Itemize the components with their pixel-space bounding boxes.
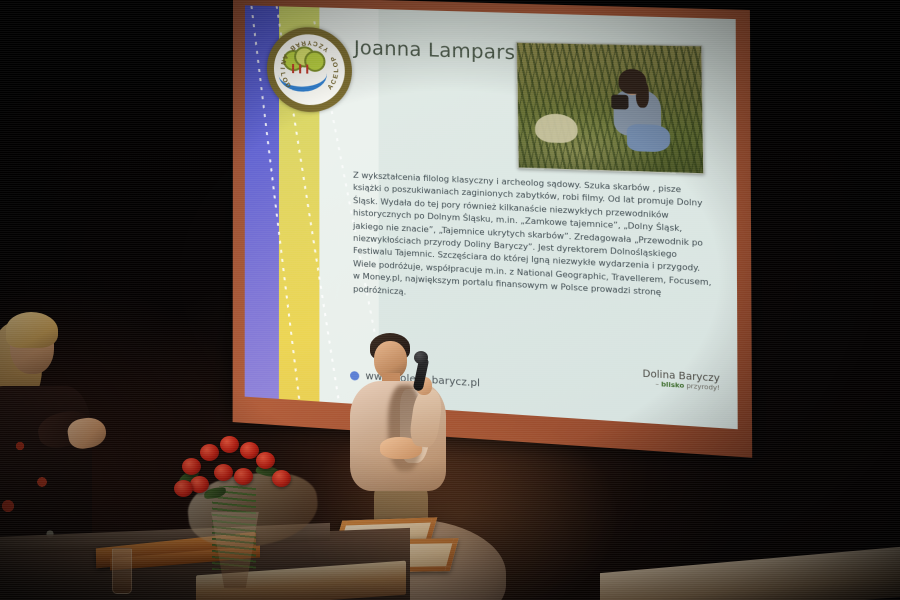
slide-body-text: Z wykształcenia filolog klasyczny i arch… bbox=[353, 169, 713, 315]
logo-ring-text: DOLINA BARYCZY POLECA bbox=[274, 33, 345, 106]
projection-screen: DOLINA BARYCZY POLECA Joanna Lamparska bbox=[233, 0, 753, 458]
rose bbox=[174, 480, 193, 497]
photo-rock bbox=[535, 113, 578, 143]
slide-body-paragraph: Z wykształcenia filolog klasyczny i arch… bbox=[353, 169, 713, 315]
rose bbox=[182, 458, 201, 475]
rose bbox=[256, 452, 275, 469]
rose bbox=[234, 468, 253, 485]
photo-person-hair bbox=[618, 69, 646, 95]
photo-photographer bbox=[602, 71, 675, 158]
presentation-slide: DOLINA BARYCZY POLECA Joanna Lamparska bbox=[245, 5, 738, 429]
slide-photo bbox=[516, 42, 705, 175]
woman-hair-front bbox=[6, 312, 58, 348]
rose bbox=[200, 444, 219, 461]
rose bbox=[272, 470, 291, 487]
rose bbox=[214, 464, 233, 481]
rose bbox=[220, 436, 239, 453]
drinking-glass bbox=[112, 548, 132, 594]
stage-scene: DOLINA BARYCZY POLECA Joanna Lamparska bbox=[0, 0, 900, 600]
microphone-head-icon bbox=[414, 351, 428, 364]
rose-bouquet bbox=[160, 430, 340, 590]
slide-title: Joanna Lamparska bbox=[354, 37, 539, 65]
photo-person-legs bbox=[627, 124, 671, 152]
rose bbox=[190, 476, 209, 493]
photo-camera-icon bbox=[611, 94, 628, 109]
dolina-baryczy-poleca-logo-icon: DOLINA BARYCZY POLECA bbox=[267, 26, 352, 114]
slide-footer-brand: Dolina Baryczy – blisko przyrody! bbox=[643, 370, 720, 392]
